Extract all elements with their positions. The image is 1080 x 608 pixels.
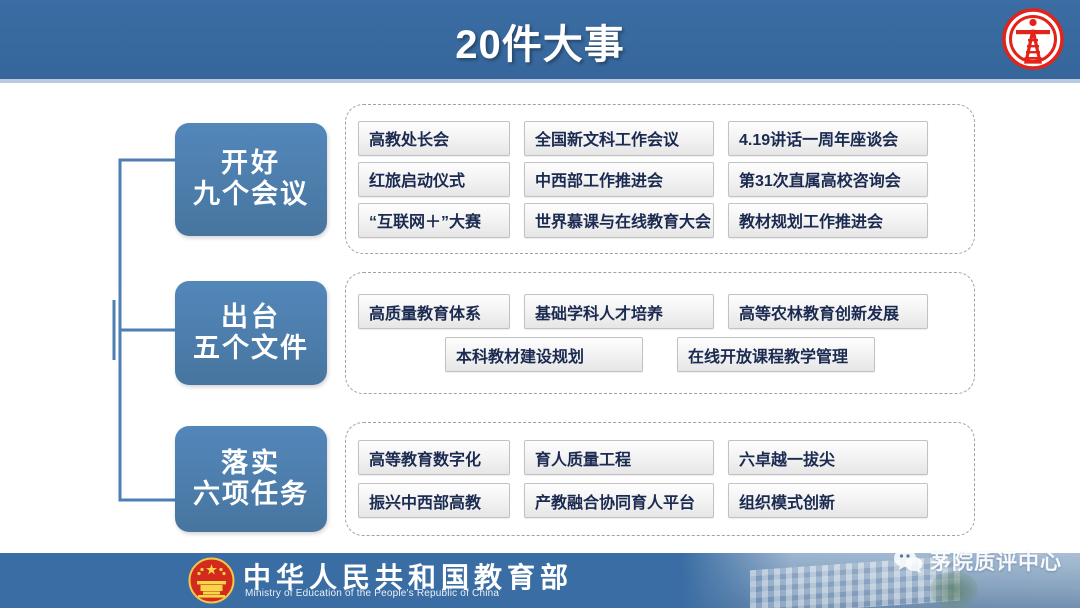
bracket-connector-icon xyxy=(112,150,184,510)
wechat-icon xyxy=(893,548,923,574)
item-chip[interactable]: 红旅启动仪式 xyxy=(358,162,510,197)
item-chip[interactable]: 高等农林教育创新发展 xyxy=(728,294,928,329)
items-row: “互联网＋”大赛 世界慕课与在线教育大会 教材规划工作推进会 xyxy=(358,203,962,238)
items-panel-documents: 高质量教育体系 基础学科人才培养 高等农林教育创新发展 本科教材建设规划 在线开… xyxy=(345,272,975,394)
item-chip[interactable]: 基础学科人才培养 xyxy=(524,294,714,329)
header-underline xyxy=(0,79,1080,83)
page-title: 20件大事 xyxy=(0,12,1080,70)
section-documents: 出台 五个文件 高质量教育体系 基础学科人才培养 高等农林教育创新发展 本科教材… xyxy=(175,272,975,394)
item-chip[interactable]: 全国新文科工作会议 xyxy=(524,121,714,156)
badge-line-2: 九个会议 xyxy=(193,179,309,210)
badge-line-1: 开好 xyxy=(221,148,281,179)
wechat-watermark: 茅院质评中心 xyxy=(893,546,1062,576)
item-chip[interactable]: 教材规划工作推进会 xyxy=(728,203,928,238)
slide-canvas: 20件大事 开好 九个会议 高教处长会 全国新文科工作会议 4.19讲话一周年座… xyxy=(0,0,1080,608)
section-badge-tasks[interactable]: 落实 六项任务 xyxy=(175,426,327,532)
badge-line-1: 落实 xyxy=(221,448,281,479)
item-chip[interactable]: 产教融合协同育人平台 xyxy=(524,483,714,518)
items-row: 本科教材建设规划 在线开放课程教学管理 xyxy=(358,337,962,372)
item-chip[interactable]: 第31次直属高校咨询会 xyxy=(728,162,928,197)
item-chip[interactable]: 世界慕课与在线教育大会 xyxy=(524,203,714,238)
item-chip[interactable]: 高教处长会 xyxy=(358,121,510,156)
item-chip[interactable]: 振兴中西部高教 xyxy=(358,483,510,518)
items-row: 高教处长会 全国新文科工作会议 4.19讲话一周年座谈会 xyxy=(358,121,962,156)
items-row: 高等教育数字化 育人质量工程 六卓越一拔尖 xyxy=(358,440,962,475)
items-row: 高质量教育体系 基础学科人才培养 高等农林教育创新发展 xyxy=(358,294,962,329)
section-tasks: 落实 六项任务 高等教育数字化 育人质量工程 六卓越一拔尖 振兴中西部高教 产教… xyxy=(175,422,975,536)
badge-line-2: 六项任务 xyxy=(193,479,309,510)
china-national-emblem-icon xyxy=(188,557,235,604)
item-chip[interactable]: 中西部工作推进会 xyxy=(524,162,714,197)
items-row: 红旅启动仪式 中西部工作推进会 第31次直属高校咨询会 xyxy=(358,162,962,197)
item-chip[interactable]: 在线开放课程教学管理 xyxy=(677,337,875,372)
item-chip[interactable]: “互联网＋”大赛 xyxy=(358,203,510,238)
watermark-text: 茅院质评中心 xyxy=(930,546,1062,576)
item-chip[interactable]: 育人质量工程 xyxy=(524,440,714,475)
item-chip[interactable]: 组织模式创新 xyxy=(728,483,928,518)
items-row: 振兴中西部高教 产教融合协同育人平台 组织模式创新 xyxy=(358,483,962,518)
red-circle-tower-logo-icon xyxy=(1000,6,1066,72)
item-chip[interactable]: 六卓越一拔尖 xyxy=(728,440,928,475)
item-chip[interactable]: 高等教育数字化 xyxy=(358,440,510,475)
item-chip[interactable]: 高质量教育体系 xyxy=(358,294,510,329)
items-panel-tasks: 高等教育数字化 育人质量工程 六卓越一拔尖 振兴中西部高教 产教融合协同育人平台… xyxy=(345,422,975,536)
ministry-name-en: Ministry of Education of the People's Re… xyxy=(245,588,499,599)
badge-line-2: 五个文件 xyxy=(193,333,309,364)
items-panel-meetings: 高教处长会 全国新文科工作会议 4.19讲话一周年座谈会 红旅启动仪式 中西部工… xyxy=(345,104,975,254)
item-chip[interactable]: 4.19讲话一周年座谈会 xyxy=(728,121,928,156)
item-chip[interactable]: 本科教材建设规划 xyxy=(445,337,643,372)
section-meetings: 开好 九个会议 高教处长会 全国新文科工作会议 4.19讲话一周年座谈会 红旅启… xyxy=(175,104,975,254)
section-badge-documents[interactable]: 出台 五个文件 xyxy=(175,281,327,385)
section-badge-meetings[interactable]: 开好 九个会议 xyxy=(175,123,327,236)
tree-shape xyxy=(930,571,978,608)
badge-line-1: 出台 xyxy=(221,302,281,333)
